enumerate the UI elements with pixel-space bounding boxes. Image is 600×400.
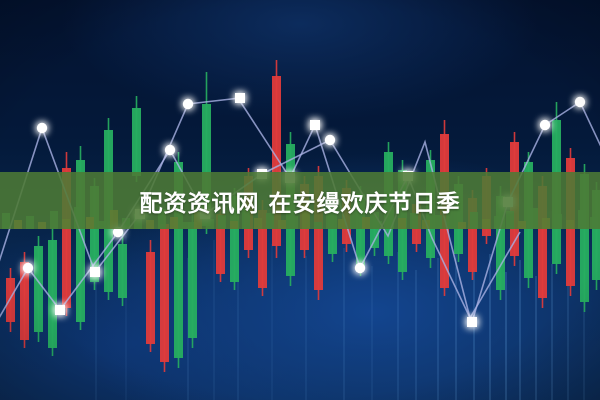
- data-node-square: [235, 93, 245, 103]
- banner-title: 配资资讯网 在安缦欢庆节日季: [139, 184, 460, 218]
- data-node-circle: [165, 145, 175, 155]
- headline-band: 配资资讯网 在安缦欢庆节日季: [0, 172, 600, 229]
- data-node-square: [90, 267, 100, 277]
- zigzag-polyline: [0, 140, 520, 330]
- stock-banner-image: 配资资讯网 在安缦欢庆节日季: [0, 0, 600, 400]
- data-node-circle: [540, 120, 550, 130]
- data-node-circle: [23, 263, 33, 273]
- data-node-circle: [325, 135, 335, 145]
- data-node-square: [310, 120, 320, 130]
- data-node-square: [55, 305, 65, 315]
- data-node-circle: [37, 123, 47, 133]
- data-node-circle: [355, 263, 365, 273]
- data-node-square: [467, 317, 477, 327]
- data-node-circle: [183, 99, 193, 109]
- data-node-circle: [575, 97, 585, 107]
